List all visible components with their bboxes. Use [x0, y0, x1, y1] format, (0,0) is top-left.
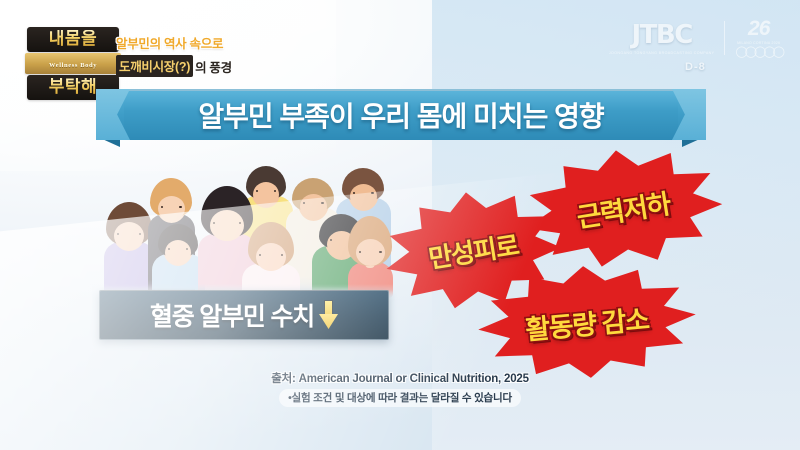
person-eyes: [259, 254, 283, 256]
subtitle-line-2-rest: 의 풍경: [195, 57, 232, 76]
person-face: [256, 243, 286, 271]
person-eyes: [359, 251, 382, 253]
person-eyes: [256, 190, 276, 192]
jtbc-wordmark: JTBC: [631, 22, 691, 48]
arrow-shaft: [324, 300, 333, 316]
olympic-rings-icon: ◯◯◯◯◯: [735, 47, 782, 58]
program-logo-subtitle-bar: Wellness Body: [25, 53, 121, 74]
program-logo-line1-text: 내몸을: [31, 30, 115, 48]
person-face: [210, 210, 244, 241]
broadcast-graphic-stage: 내몸을 Wellness Body 부탁해 알부민의 역사 속으로 도깨비시장(…: [0, 0, 800, 450]
person-eyes: [353, 192, 374, 194]
source-disclaimer: •실험 조건 및 대상에 따라 결과는 달라질 수 있습니다: [279, 389, 521, 407]
page-title: 알부민 부족이 우리 몸에 미치는 영향: [96, 89, 706, 140]
broadcaster-bug: JTBC JOONGANG TONGYANG BROADCASTING COMP…: [609, 18, 782, 73]
group-of-people-illustration: [98, 158, 388, 308]
effect-badge-activity-decrease: 활동량 감소: [474, 259, 699, 386]
person-eyes: [117, 233, 141, 235]
albumin-level-text: 혈중 알부민 수치: [150, 297, 314, 333]
olympic-logo: 26 MILANO CORTINA 2026 ◯◯◯◯◯: [735, 18, 782, 58]
person-eyes: [213, 222, 241, 224]
subtitle-line-1: 알부민의 역사 속으로: [116, 33, 232, 52]
person-face: [165, 240, 191, 265]
person-eyes: [303, 202, 324, 204]
person-eyes: [168, 248, 188, 250]
jtbc-tagline: JOONGANG TONGYANG BROADCASTING COMPANY: [609, 51, 715, 55]
countdown-badge: D-8: [685, 61, 706, 73]
person-eyes: [161, 206, 182, 208]
olympic-caption: MILANO CORTINA 2026: [737, 41, 780, 45]
subtitle-line-2: 도깨비시장(?) 의 풍경: [116, 55, 232, 77]
arrow-head: [319, 314, 338, 329]
person-face: [158, 196, 185, 221]
albumin-level-label: 혈중 알부민 수치: [99, 290, 389, 340]
program-logo-line1: 내몸을: [27, 27, 119, 52]
effect-badge-muscle-loss: 근력저하: [517, 138, 730, 278]
headline-ribbon: 알부민 부족이 우리 몸에 미치는 영향: [96, 89, 706, 140]
down-arrow-icon: [319, 300, 338, 330]
subtitle-line-2-highlight: 도깨비시장(?): [116, 55, 193, 77]
source-credits: 출처: American Journal or Clinical Nutriti…: [0, 370, 800, 407]
source-citation: 출처: American Journal or Clinical Nutriti…: [271, 370, 529, 386]
olympic-year-number: 26: [748, 18, 769, 39]
program-logo-subtitle-text: Wellness Body: [49, 62, 97, 69]
jtbc-logo: JTBC JOONGANG TONGYANG BROADCASTING COMP…: [609, 22, 715, 55]
broadcaster-bug-row: JTBC JOONGANG TONGYANG BROADCASTING COMP…: [609, 18, 782, 58]
person-face: [114, 222, 144, 250]
subtitle-group: 알부민의 역사 속으로 도깨비시장(?) 의 풍경: [116, 33, 232, 77]
bug-divider: [724, 21, 725, 55]
person-face: [350, 184, 377, 209]
